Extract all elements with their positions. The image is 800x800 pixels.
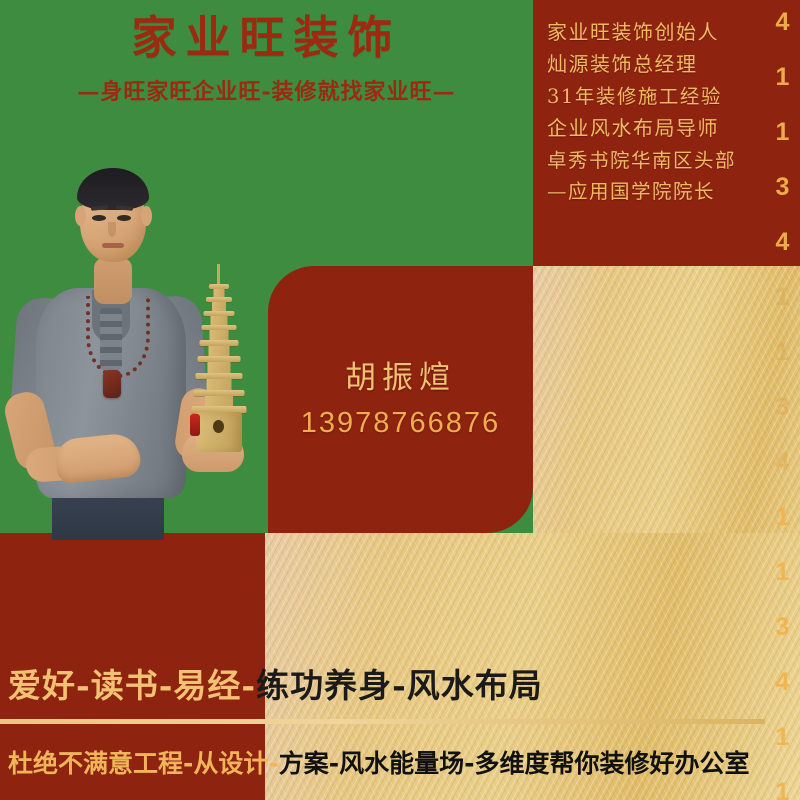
right-ear	[141, 206, 152, 226]
edge-number: 1	[776, 340, 790, 365]
contact-group: 胡振煊 13978766876	[268, 352, 533, 462]
hobby-band: 爱好-读书-易经-练功养身-风水布局	[0, 655, 800, 717]
right-eye	[117, 215, 131, 221]
slogan-band: 杜绝不满意工程-从设计-方案-风水能量场-多维度帮你装修好办公室	[0, 738, 800, 790]
person-name: 胡振煊	[268, 352, 533, 397]
jade-pendant	[103, 370, 121, 398]
edge-number: 1	[776, 285, 790, 310]
portrait-photo	[0, 140, 270, 540]
edge-number: 3	[776, 395, 790, 420]
credentials-list: 家业旺装饰创始人 灿源装饰总经理 31年装修施工经验 企业风水布局导师 卓秀书院…	[533, 14, 765, 254]
mouth	[102, 243, 124, 248]
pagoda-body	[211, 316, 228, 325]
prayer-bead-necklace	[86, 296, 150, 378]
edge-number: 4	[776, 450, 790, 475]
credential-item: 企业风水布局导师	[547, 112, 759, 144]
page-title: 家业旺装饰	[0, 8, 533, 69]
pagoda-body	[205, 396, 233, 406]
hobby-text: 爱好-读书-易经-练功养身-风水布局	[8, 655, 543, 717]
headline-group: 家业旺装饰 —身旺家旺企业旺-装修就找家业旺—	[0, 8, 533, 118]
poster-canvas: 家业旺装饰 —身旺家旺企业旺-装修就找家业旺— 家业旺装饰创始人 灿源装饰总经理…	[0, 0, 800, 800]
credential-item: —应用国学院院长	[547, 176, 759, 208]
edge-number: 1	[776, 505, 790, 530]
edge-number: 1	[776, 65, 790, 90]
edge-number: 4	[776, 230, 790, 255]
pagoda-body	[209, 346, 230, 356]
phone-number[interactable]: 13978766876	[268, 407, 533, 440]
credential-item: 卓秀书院华南区头部	[547, 145, 759, 177]
left-eye	[92, 215, 106, 221]
credential-item: 31年装修施工经验	[547, 81, 759, 113]
hobby-text-gold: 爱好-读书-易经-	[8, 666, 256, 705]
pagoda-window	[213, 420, 224, 433]
page-subtitle: —身旺家旺企业旺-装修就找家业旺—	[0, 74, 533, 106]
pagoda-body	[212, 302, 226, 311]
pagoda-spire	[217, 264, 220, 286]
edge-number: 1	[776, 560, 790, 585]
slogan-text-dark: 方案-风水能量场-多维度帮你装修好办公室	[279, 749, 750, 778]
red-tassel	[190, 414, 200, 436]
hair	[77, 168, 149, 210]
pagoda-body	[210, 330, 229, 340]
gold-divider	[0, 719, 765, 724]
slogan-text-gold: 杜绝不满意工程-从设计-	[8, 749, 279, 778]
edge-number: 4	[776, 10, 790, 35]
pagoda-body	[207, 379, 232, 390]
nose	[108, 222, 116, 237]
edge-number: 1	[776, 120, 790, 145]
neck	[94, 258, 132, 304]
credential-item: 家业旺装饰创始人	[547, 16, 759, 48]
edge-number: 3	[776, 175, 790, 200]
edge-number: 3	[776, 615, 790, 640]
slogan-text: 杜绝不满意工程-从设计-方案-风水能量场-多维度帮你装修好办公室	[8, 738, 750, 790]
pagoda-body	[214, 289, 225, 297]
hobby-text-dark: 练功养身-风水布局	[256, 666, 543, 705]
pagoda-base	[196, 412, 242, 452]
wooden-pagoda-model	[188, 264, 250, 452]
credential-item: 灿源装饰总经理	[547, 48, 759, 80]
left-ear	[75, 206, 86, 226]
pagoda-body	[208, 362, 231, 373]
